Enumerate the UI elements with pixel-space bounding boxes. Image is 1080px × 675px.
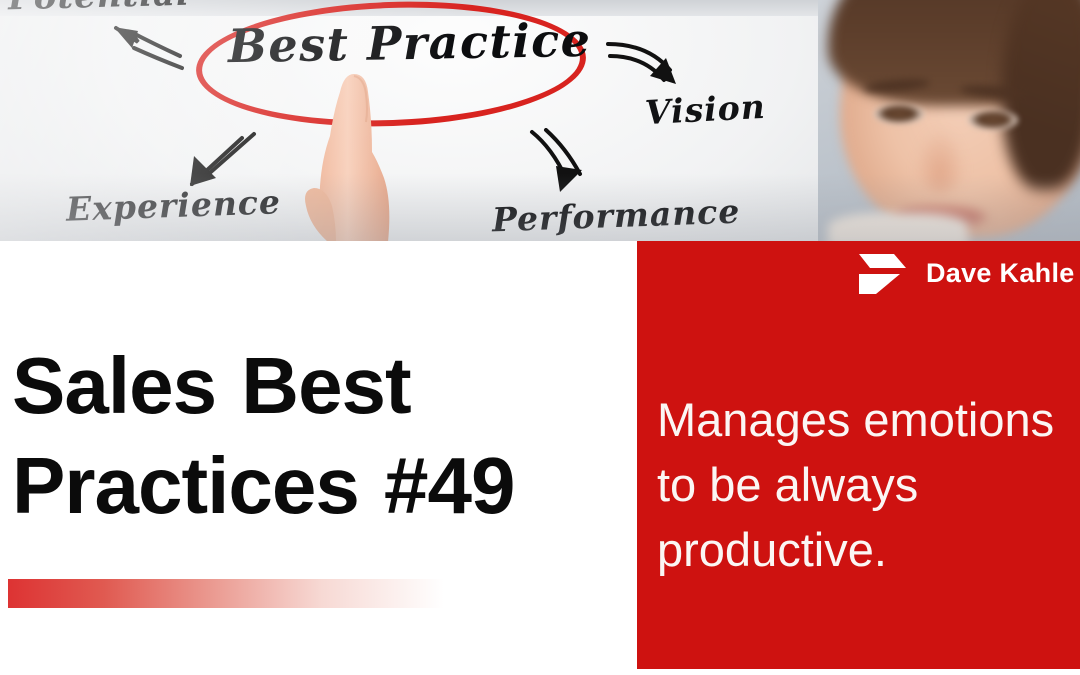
label-best-practice: Best Practice	[228, 13, 592, 73]
quote-line-2: to be always	[657, 452, 1080, 517]
arrow-to-vision-icon	[604, 36, 690, 90]
header-photo: Potential Best Practice Vision Experienc…	[0, 0, 1080, 241]
accent-gradient-bar	[8, 579, 444, 608]
chevron-mark-icon	[856, 250, 912, 296]
arrow-to-performance-icon	[524, 128, 596, 196]
page-title-line1: Sales Best	[12, 341, 411, 430]
arrow-to-experience-icon	[182, 128, 262, 190]
label-performance: Performance	[491, 192, 741, 240]
quote-text: Manages emotions to be always productive…	[657, 387, 1080, 582]
title-panel: Sales Best Practices #49	[0, 241, 637, 675]
page-title-line2: Practices #49	[12, 441, 515, 530]
quote-line-1: Manages emotions	[657, 387, 1080, 452]
page-title: Sales Best Practices #49	[12, 336, 637, 536]
speaker-portrait	[818, 0, 1080, 241]
bottom-white-strip	[0, 669, 1080, 675]
label-vision: Vision	[644, 87, 767, 132]
brand-lockup: Dave Kahle	[856, 247, 1075, 299]
brand-name: Dave Kahle	[926, 258, 1075, 289]
slide: Potential Best Practice Vision Experienc…	[0, 0, 1080, 675]
quote-panel: Dave Kahle Manages emotions to be always…	[637, 241, 1080, 669]
quote-line-3: productive.	[657, 517, 1080, 582]
arrow-to-potential-icon	[104, 18, 184, 74]
label-experience: Experience	[65, 182, 281, 228]
